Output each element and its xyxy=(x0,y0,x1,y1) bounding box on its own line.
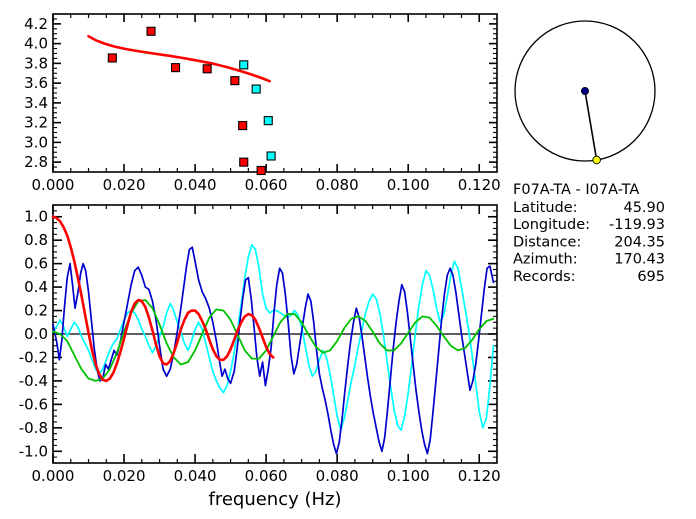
x-tick-label: 0.120 xyxy=(458,467,501,485)
data-point-marker xyxy=(108,54,116,62)
metadata-label-4: Records: xyxy=(513,269,576,285)
metadata-value-3: 170.43 xyxy=(614,252,665,268)
metadata-label-3: Azimuth: xyxy=(513,252,578,268)
y-tick-label: 2.8 xyxy=(24,153,48,171)
x-tick-label: 0.020 xyxy=(103,467,146,485)
series-blue-trace xyxy=(53,247,493,453)
seismic-figure: 0.0000.0200.0400.0600.0800.1000.1202.83.… xyxy=(0,0,696,519)
station-pair-title: F07A-TA - I07A-TA xyxy=(513,182,639,198)
x-tick-label: 0.100 xyxy=(387,467,430,485)
metadata-label-2: Distance: xyxy=(513,234,581,250)
metadata-panel: F07A-TA - I07A-TALatitude:45.90Longitude… xyxy=(513,182,665,285)
y-tick-label: 4.2 xyxy=(24,15,48,33)
x-tick-label: 0.000 xyxy=(32,467,75,485)
y-tick-label: 0.8 xyxy=(24,231,48,249)
data-point-marker xyxy=(257,167,265,175)
data-point-marker xyxy=(239,122,247,130)
metadata-value-0: 45.90 xyxy=(623,200,665,216)
y-tick-label: 3.0 xyxy=(24,133,48,151)
data-point-marker xyxy=(264,117,272,125)
y-tick-label: 1.0 xyxy=(24,208,48,226)
y-tick-label: 0.6 xyxy=(24,255,48,273)
y-tick-label: -1.0 xyxy=(19,442,48,460)
crosscorrelation-panel: 0.0000.0200.0400.0600.0800.1000.120-1.0-… xyxy=(19,205,501,510)
data-point-marker xyxy=(240,158,248,166)
y-tick-label: 0.0 xyxy=(24,325,48,343)
x-tick-label: 0.040 xyxy=(174,467,217,485)
metadata-value-1: -119.93 xyxy=(609,217,665,233)
data-point-marker xyxy=(203,65,211,73)
y-tick-label: 4.0 xyxy=(24,35,48,53)
x-tick-label: 0.000 xyxy=(32,176,75,194)
azimuth-map-panel xyxy=(515,21,655,164)
y-tick-label: 0.2 xyxy=(24,302,48,320)
figure-root: 0.0000.0200.0400.0600.0800.1000.1202.83.… xyxy=(0,0,696,519)
y-tick-label: 0.4 xyxy=(24,278,48,296)
data-point-marker xyxy=(267,152,275,160)
dispersion-plot-frame xyxy=(53,14,497,172)
data-point-marker xyxy=(147,27,155,35)
metadata-label-1: Longitude: xyxy=(513,217,590,233)
x-tick-label: 0.020 xyxy=(103,176,146,194)
x-tick-label: 0.120 xyxy=(458,176,501,194)
x-tick-label: 0.080 xyxy=(316,176,359,194)
y-tick-label: -0.8 xyxy=(19,419,48,437)
y-tick-label: 3.8 xyxy=(24,54,48,72)
y-tick-label: 3.2 xyxy=(24,114,48,132)
y-tick-label: 3.4 xyxy=(24,94,48,112)
dispersion-x-ticks: 0.0000.0200.0400.0600.0800.1000.120 xyxy=(32,14,501,194)
x-tick-label: 0.060 xyxy=(245,176,288,194)
metadata-label-0: Latitude: xyxy=(513,200,578,216)
y-tick-label: -0.6 xyxy=(19,395,48,413)
metadata-value-4: 695 xyxy=(637,269,665,285)
station-origin-dot xyxy=(581,87,588,94)
data-point-marker xyxy=(240,61,248,69)
data-point-marker xyxy=(252,85,260,93)
x-tick-label: 0.100 xyxy=(387,176,430,194)
y-tick-label: -0.2 xyxy=(19,348,48,366)
y-tick-label: -0.4 xyxy=(19,372,48,390)
x-tick-label: 0.080 xyxy=(316,467,359,485)
azimuth-path-line xyxy=(585,91,597,160)
data-point-marker xyxy=(231,77,239,85)
metadata-value-2: 204.35 xyxy=(614,234,665,250)
series-red-trace xyxy=(53,217,273,381)
x-tick-label: 0.040 xyxy=(174,176,217,194)
data-point-marker xyxy=(172,64,180,72)
x-tick-label: 0.060 xyxy=(245,467,288,485)
station-target-dot xyxy=(593,156,601,164)
y-tick-label: 3.6 xyxy=(24,74,48,92)
x-axis-title: frequency (Hz) xyxy=(208,489,341,510)
dispersion-panel: 0.0000.0200.0400.0600.0800.1000.1202.83.… xyxy=(24,14,501,194)
